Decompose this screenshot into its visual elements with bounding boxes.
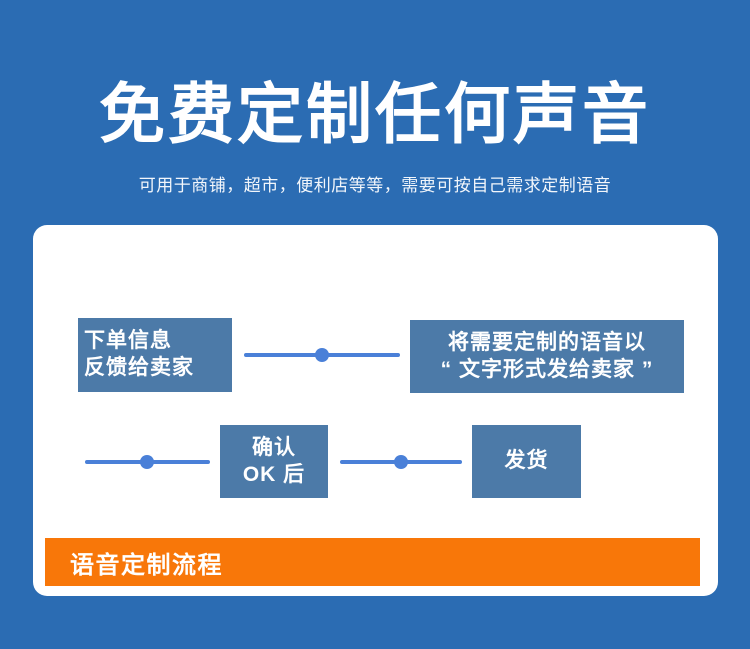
flow-step-confirm-ok-label: 确认 OK 后 (243, 435, 305, 489)
flow-card: 下单信息 反馈给卖家 将需要定制的语音以 “ 文字形式发给卖家 ” 确认 OK … (33, 225, 718, 596)
connector-confirm-to-ship (340, 455, 462, 469)
flow-step-send-text-label: 将需要定制的语音以 “ 文字形式发给卖家 ” (441, 330, 654, 384)
flow-step-confirm-ok[interactable]: 确认 OK 后 (220, 425, 328, 498)
process-title-bar: 语音定制流程 (45, 538, 700, 586)
connector-dot (394, 455, 408, 469)
connector-order-to-send-text (244, 348, 400, 362)
flow-step-order-info-label: 下单信息 反馈给卖家 (84, 328, 194, 382)
connector-dot (315, 348, 329, 362)
page-title: 免费定制任何声音 (0, 76, 750, 152)
page-subtitle: 可用于商铺，超市，便利店等等，需要可按自己需求定制语音 (0, 174, 750, 198)
flow-step-ship-label: 发货 (505, 448, 549, 475)
header-banner: 免费定制任何声音 可用于商铺，超市，便利店等等，需要可按自己需求定制语音 (0, 0, 750, 225)
connector-send-text-to-confirm (85, 455, 210, 469)
process-title-label: 语音定制流程 (70, 545, 223, 580)
flow-step-ship[interactable]: 发货 (472, 425, 581, 498)
connector-dot (140, 455, 154, 469)
flow-step-send-text[interactable]: 将需要定制的语音以 “ 文字形式发给卖家 ” (410, 320, 684, 393)
flow-step-order-info[interactable]: 下单信息 反馈给卖家 (78, 318, 232, 392)
